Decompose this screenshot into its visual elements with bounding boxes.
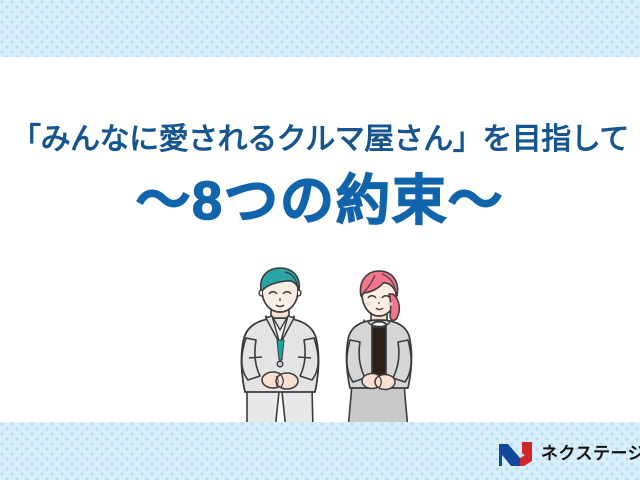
male-left-ear <box>259 290 262 296</box>
male-staff-figure <box>241 268 318 430</box>
female-ponytail <box>389 294 399 320</box>
staff-illustration-svg <box>0 262 640 430</box>
nextage-n-mark-icon <box>498 441 534 467</box>
headline-line-1: 「みんなに愛されるクルマ屋さん」を目指して <box>0 118 640 162</box>
male-right-pocket <box>298 357 311 358</box>
female-right-cheek <box>387 302 393 306</box>
poster-canvas: 「みんなに愛されるクルマ屋さん」を目指して ～8つの約束～ <box>0 0 640 480</box>
nextage-wordmark: ネクステージ <box>541 441 640 467</box>
male-right-hand <box>276 373 298 389</box>
female-staff-figure <box>347 271 412 430</box>
nextage-logo: ネクステージ <box>498 437 634 471</box>
male-right-ear <box>298 290 301 296</box>
headline-block: 「みんなに愛されるクルマ屋さん」を目指して ～8つの約束～ <box>0 118 640 232</box>
top-decorative-band <box>0 0 640 57</box>
male-jacket-button <box>277 361 283 367</box>
headline-line-2: ～8つの約束～ <box>0 170 640 232</box>
staff-illustration <box>0 262 640 430</box>
female-right-hand <box>375 375 395 390</box>
n-mark-blue-stroke <box>499 444 520 466</box>
male-left-pocket <box>249 357 262 358</box>
female-left-cheek <box>365 302 371 306</box>
